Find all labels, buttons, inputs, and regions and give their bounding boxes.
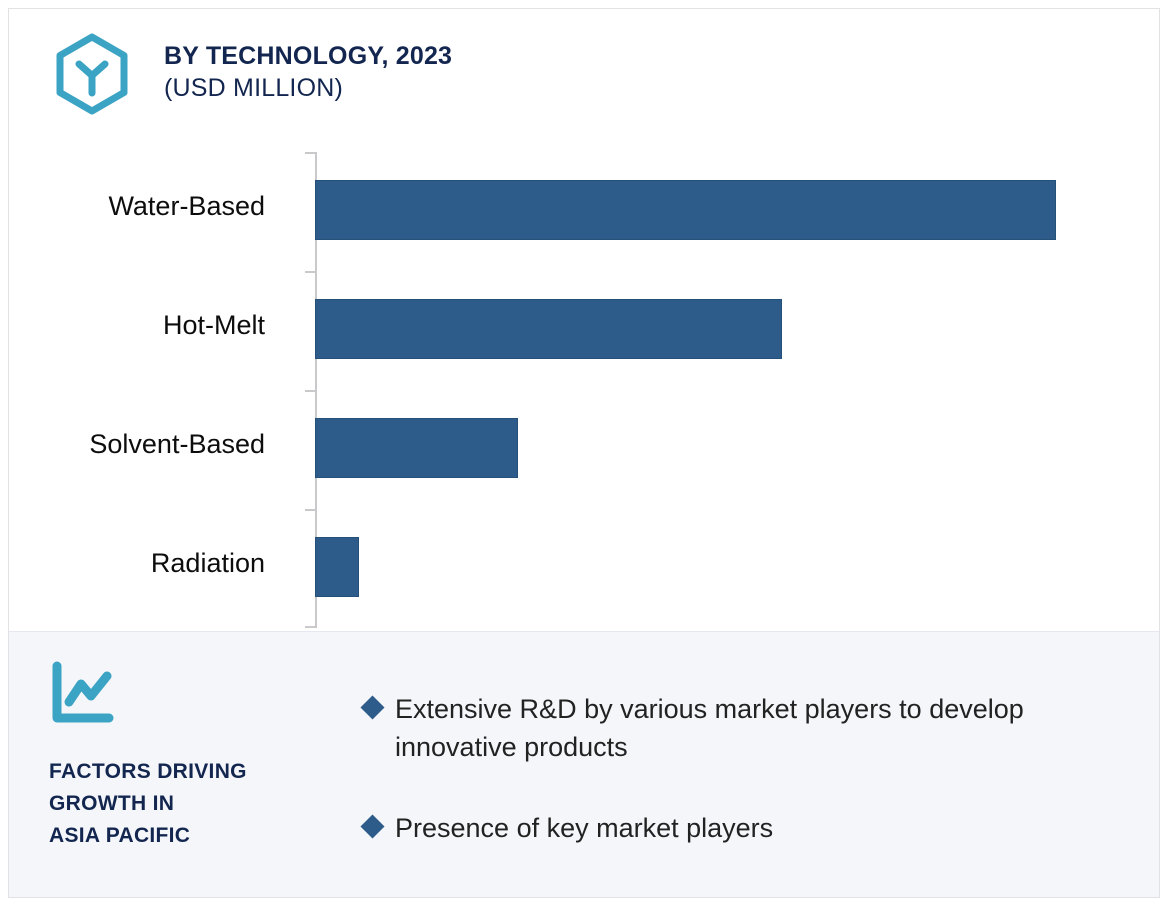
diamond-bullet-icon [360, 814, 384, 838]
bar-chart: Water-Based Hot-Melt Solvent-Based Radia… [9, 133, 1159, 631]
footer-heading-line-3: ASIA PACIFIC [49, 820, 349, 852]
header-text-block: BY TECHNOLOGY, 2023 (USD MILLION) [164, 41, 452, 104]
bullet-text: Presence of key market players [395, 809, 1104, 847]
hexagon-y-logo-icon [51, 33, 133, 115]
bar-water-based [315, 180, 1056, 240]
chart-card: BY TECHNOLOGY, 2023 (USD MILLION) Water-… [8, 8, 1160, 898]
line-chart-icon [47, 658, 119, 730]
footer-heading: FACTORS DRIVING GROWTH IN ASIA PACIFIC [49, 756, 349, 852]
page-title: BY TECHNOLOGY, 2023 [164, 41, 452, 73]
list-item: Presence of key market players [364, 809, 1104, 847]
list-item: Extensive R&D by various market players … [364, 690, 1104, 767]
category-label-solvent-based: Solvent-Based [8, 429, 265, 460]
factors-bullet-list: Extensive R&D by various market players … [364, 690, 1104, 889]
page-subtitle: (USD MILLION) [164, 73, 452, 105]
footer-heading-line-2: GROWTH IN [49, 788, 349, 820]
category-label-radiation: Radiation [8, 548, 265, 579]
axis-tick [305, 509, 315, 511]
chart-header: BY TECHNOLOGY, 2023 (USD MILLION) [9, 9, 1159, 133]
axis-tick [305, 271, 315, 273]
footer-panel: FACTORS DRIVING GROWTH IN ASIA PACIFIC E… [9, 631, 1159, 898]
category-label-hot-melt: Hot-Melt [8, 310, 265, 341]
bar-solvent-based [315, 418, 518, 478]
axis-tick [305, 152, 315, 154]
footer-heading-line-1: FACTORS DRIVING [49, 756, 349, 788]
axis-tick [305, 390, 315, 392]
category-label-water-based: Water-Based [8, 191, 265, 222]
axis-tick [305, 626, 315, 628]
bullet-text: Extensive R&D by various market players … [395, 690, 1104, 767]
bar-hot-melt [315, 299, 782, 359]
bar-radiation [315, 537, 359, 597]
diamond-bullet-icon [360, 695, 384, 719]
